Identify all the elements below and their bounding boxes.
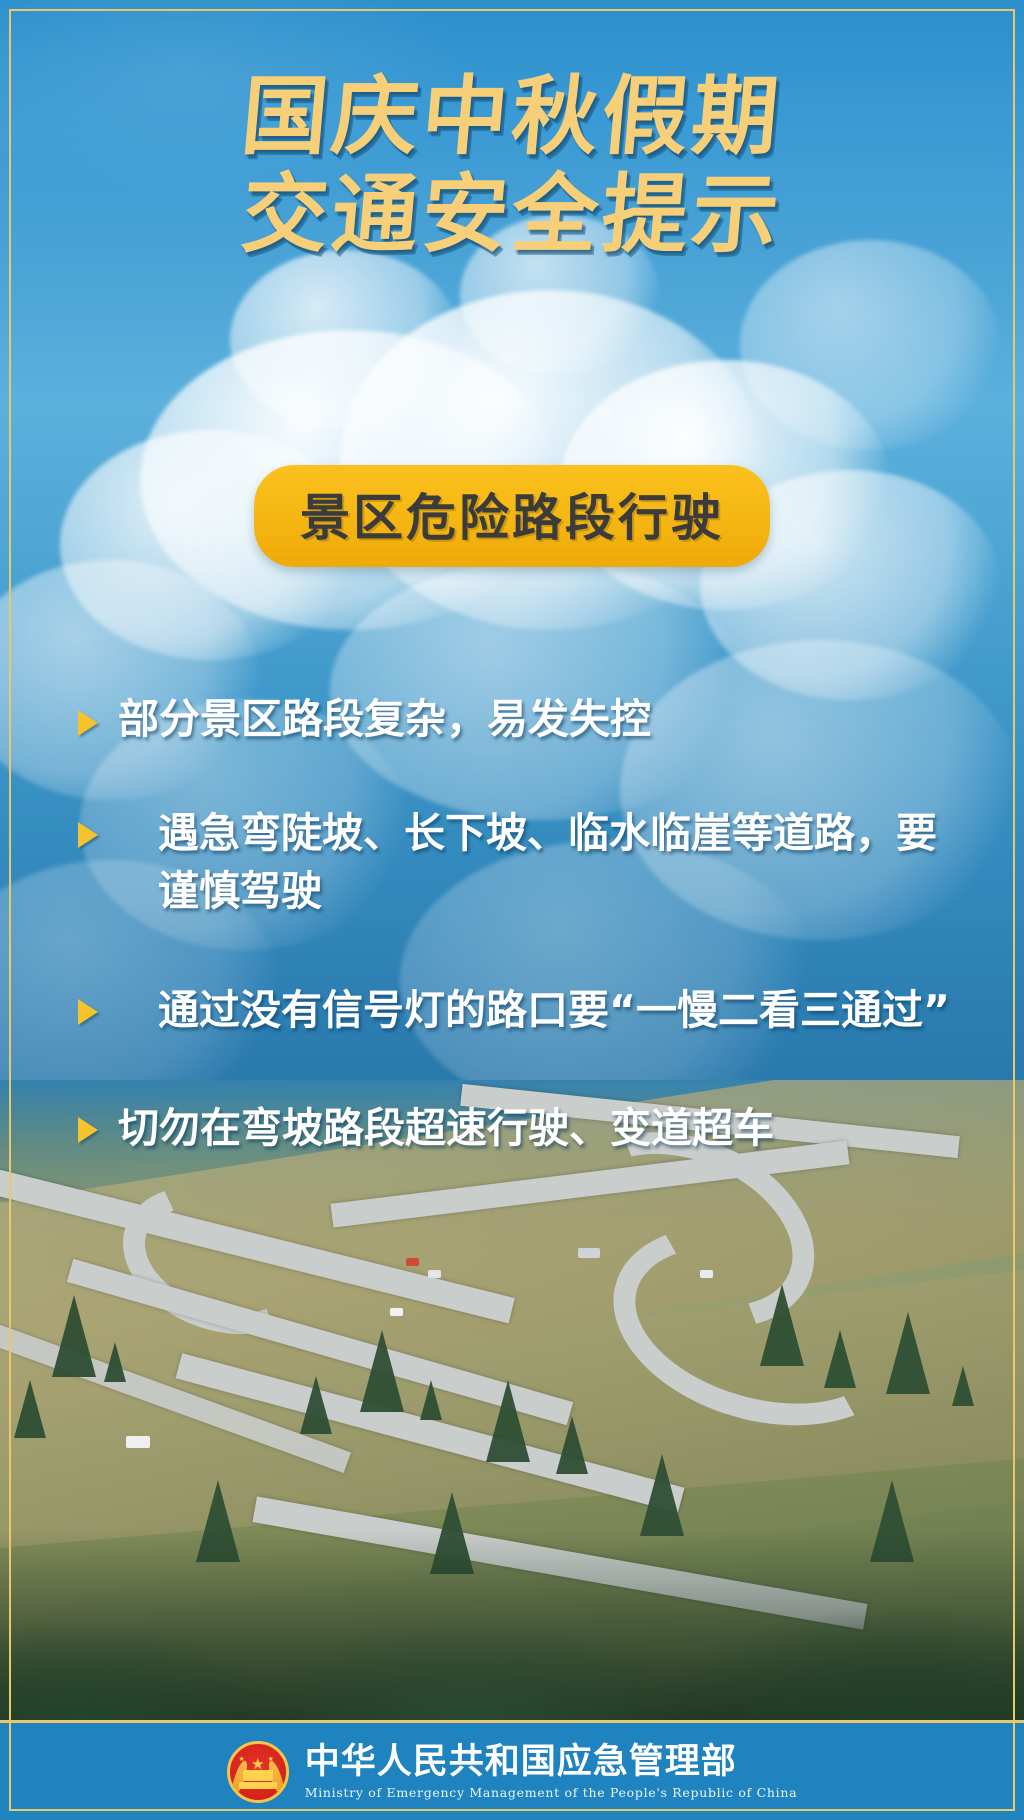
vehicle — [406, 1258, 419, 1266]
triangle-right-icon — [78, 822, 98, 848]
list-item: 通过没有信号灯的路口要“一慢二看三通过” — [78, 981, 950, 1039]
list-item: 切勿在弯坡路段超速行驶、变道超车 — [78, 1099, 950, 1157]
footer-text-block: 中华人民共和国应急管理部 Ministry of Emergency Manag… — [305, 1744, 798, 1799]
conifer-tree — [14, 1380, 46, 1438]
section-banner-label: 景区危险路段行驶 — [300, 489, 724, 547]
page-title: 国庆中秋假期 交通安全提示 — [0, 68, 1024, 264]
title-line-1: 国庆中秋假期 — [0, 68, 1024, 166]
list-item-text: 通过没有信号灯的路口要“一慢二看三通过” — [118, 981, 950, 1039]
conifer-tree — [360, 1330, 404, 1412]
triangle-right-icon — [78, 1117, 98, 1143]
triangle-right-icon — [78, 710, 98, 736]
list-item: 遇急弯陡坡、长下坡、临水临崖等道路，要谨慎驾驶 — [78, 804, 950, 920]
conifer-tree — [760, 1284, 804, 1366]
conifer-tree — [886, 1312, 930, 1394]
list-item: 部分景区路段复杂，易发失控 — [78, 692, 950, 748]
list-item-text: 切勿在弯坡路段超速行驶、变道超车 — [118, 1099, 774, 1157]
list-item-text: 遇急弯陡坡、长下坡、临水临崖等道路，要谨慎驾驶 — [118, 804, 950, 920]
conifer-tree — [556, 1416, 588, 1474]
conifer-tree — [640, 1454, 684, 1536]
china-national-emblem-icon: ★ ★ ★ — [227, 1741, 289, 1803]
footer-org-name-en: Ministry of Emergency Management of the … — [305, 1786, 798, 1799]
conifer-tree — [104, 1342, 126, 1382]
vehicle — [428, 1270, 441, 1278]
conifer-tree — [824, 1330, 856, 1388]
conifer-tree — [952, 1366, 974, 1406]
conifer-tree — [300, 1376, 332, 1434]
section-banner: 景区危险路段行驶 — [254, 465, 770, 567]
emblem-tiananmen — [243, 1770, 273, 1781]
conifer-tree — [52, 1295, 96, 1377]
vehicle — [390, 1308, 403, 1316]
conifer-tree — [420, 1380, 442, 1420]
triangle-right-icon — [78, 999, 98, 1025]
conifer-tree — [486, 1380, 530, 1462]
emblem-small-stars: ★ ★ — [230, 1755, 286, 1763]
title-line-2: 交通安全提示 — [0, 166, 1024, 264]
vehicle — [126, 1436, 150, 1448]
vehicle — [578, 1248, 600, 1258]
section-banner-wrapper: 景区危险路段行驶 — [0, 465, 1024, 567]
list-item-text: 部分景区路段复杂，易发失控 — [118, 690, 651, 748]
footer: ★ ★ ★ 中华人民共和国应急管理部 Ministry of Emergency… — [0, 1720, 1024, 1820]
foreground-vegetation — [0, 1530, 1024, 1720]
poster-root: 国庆中秋假期 交通安全提示 景区危险路段行驶 部分景区路段复杂，易发失控 遇急弯… — [0, 0, 1024, 1820]
vehicle — [700, 1270, 713, 1278]
advisory-list: 部分景区路段复杂，易发失控 遇急弯陡坡、长下坡、临水临崖等道路，要谨慎驾驶 通过… — [0, 600, 1024, 1213]
footer-org-name-cn: 中华人民共和国应急管理部 — [305, 1744, 798, 1781]
